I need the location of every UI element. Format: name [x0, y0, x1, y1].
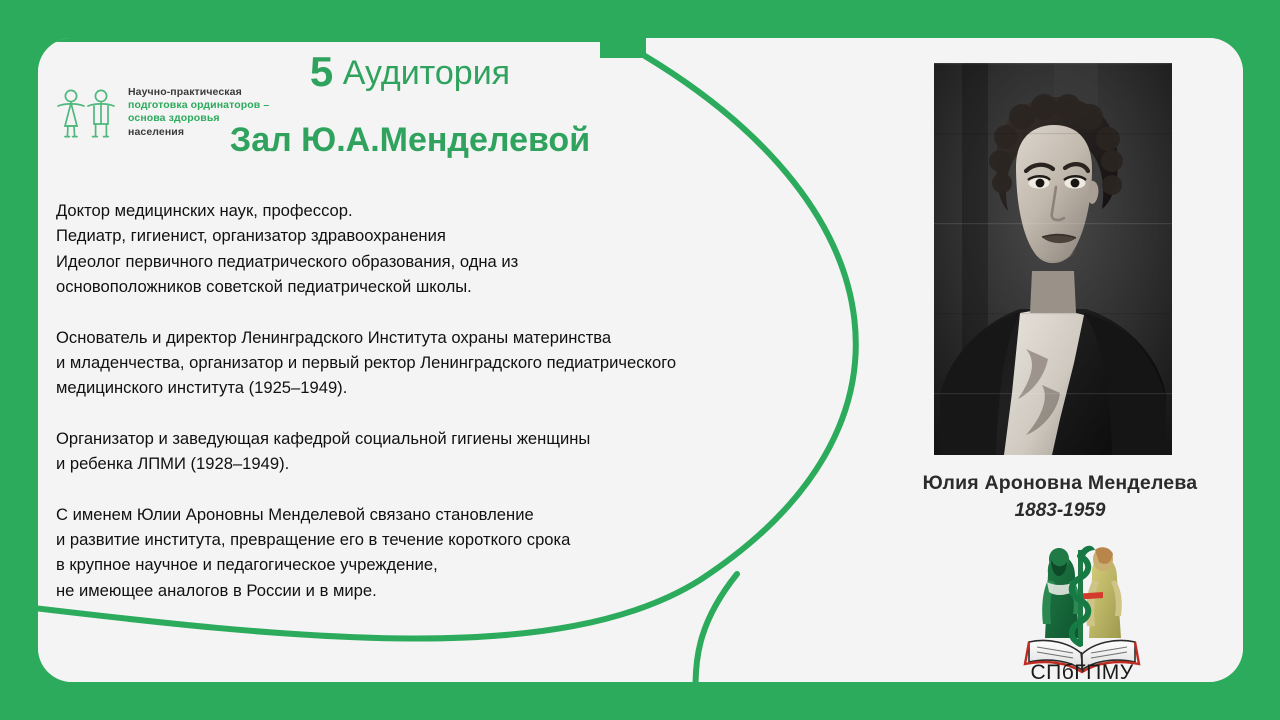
line: в крупное научное и педагогическое учреж… — [56, 555, 438, 574]
line: Организатор и заведующая кафедрой социал… — [56, 429, 590, 448]
line: Педиатр, гигиенист, организатор здравоох… — [56, 226, 446, 245]
emblem-label: СПбГПМУ — [1030, 661, 1133, 680]
line: и младенчества, организатор и первый рек… — [56, 353, 676, 372]
paragraph-4: С именем Юлии Ароновны Менделевой связан… — [56, 502, 856, 604]
paragraph-3: Организатор и заведующая кафедрой социал… — [56, 426, 856, 477]
logo-line-2: подготовка ординаторов – — [128, 99, 269, 111]
slide-title-hall: Зал Ю.А.Менделевой — [150, 118, 670, 162]
portrait-caption-years: 1883-1959 — [880, 498, 1240, 524]
line: медицинского института (1925–1949). — [56, 378, 347, 397]
line: не имеющее аналогов в России и в мире. — [56, 581, 377, 600]
two-children-figures-icon — [56, 84, 118, 146]
biography-text: Доктор медицинских наук, профессор. Педи… — [56, 198, 856, 603]
portrait-caption: Юлия Ароновна Менделева 1883-1959 — [880, 470, 1240, 524]
portrait-photo-mendeleva — [934, 63, 1172, 455]
paragraph-2: Основатель и директор Ленинградского Инс… — [56, 325, 856, 401]
line: Идеолог первичного педиатрического образ… — [56, 252, 518, 271]
line: Основатель и директор Ленинградского Инс… — [56, 328, 611, 347]
line: Доктор медицинских наук, профессор. — [56, 201, 353, 220]
spbgpmu-emblem-icon: СПбГПМУ — [1007, 532, 1157, 680]
slide-title-room: 5 Аудитория — [150, 50, 670, 95]
presentation-slide: Научно-практическая подготовка ординатор… — [0, 0, 1280, 720]
line: С именем Юлии Ароновны Менделевой связан… — [56, 505, 534, 524]
paragraph-1: Доктор медицинских наук, профессор. Педи… — [56, 198, 856, 300]
room-number: 5 — [310, 48, 333, 95]
line: основоположников советской педиатрическо… — [56, 277, 472, 296]
line: и ребенка ЛПМИ (1928–1949). — [56, 454, 289, 473]
line: и развитие института, превращение его в … — [56, 530, 570, 549]
portrait-caption-name: Юлия Ароновна Менделева — [880, 470, 1240, 496]
room-number-word: Аудитория — [343, 54, 510, 92]
